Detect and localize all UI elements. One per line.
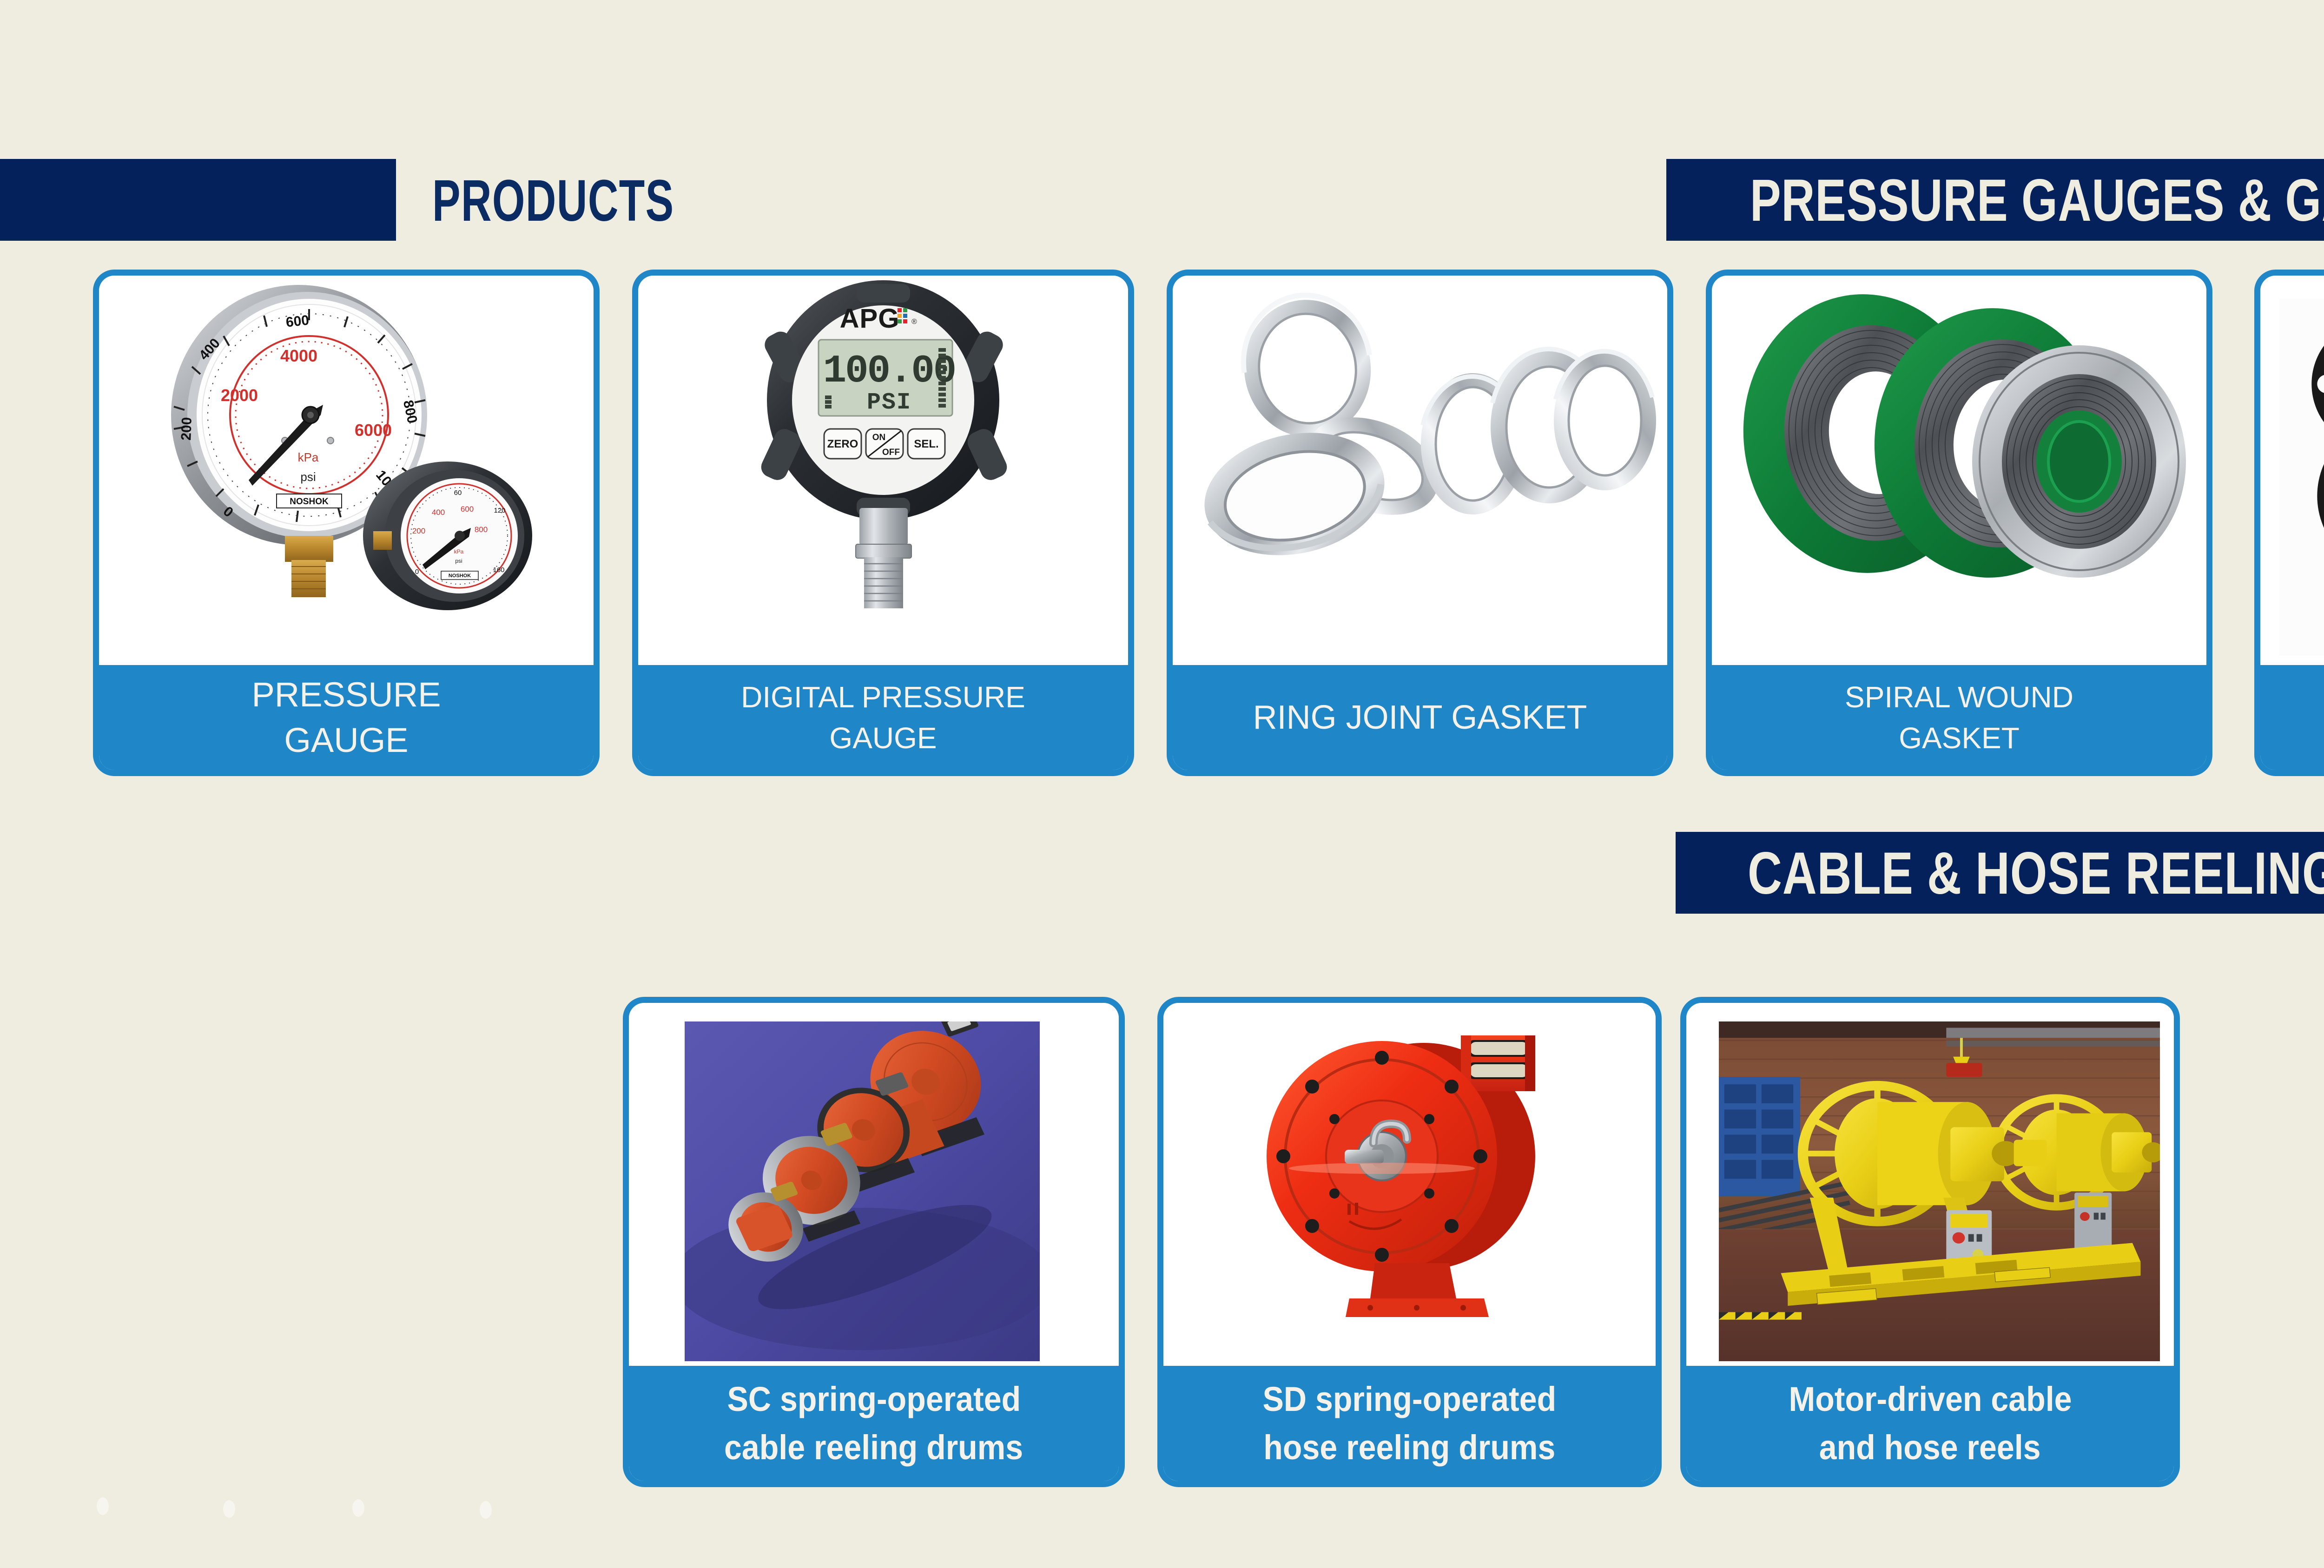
decor-dot xyxy=(97,1497,109,1515)
card-label-line1: RING JOINT GASKET xyxy=(1253,697,1587,738)
svg-text:NOSHOK: NOSHOK xyxy=(290,497,329,507)
card-label-line2: hose reeling drums xyxy=(1263,1423,1555,1472)
card-label-line1: SPIRAL WOUND xyxy=(1845,677,2073,718)
svg-text:ON: ON xyxy=(872,433,886,442)
decor-dot xyxy=(480,1501,492,1519)
svg-text:NOSHOK: NOSHOK xyxy=(449,573,471,579)
card-label-line1: SD spring-operated xyxy=(1263,1375,1557,1423)
card-label-line2: cable reeling drums xyxy=(724,1423,1023,1472)
card-label-line2: GAUGE xyxy=(284,718,408,763)
drums-header-title: CABLE & HOSE REELING DRUMS xyxy=(1748,836,2324,912)
products-header-bar xyxy=(0,159,396,241)
product-card-sd-hose-reeling-drums[interactable]: SD spring-operated hose reeling drums xyxy=(1157,997,1662,1487)
svg-text:600: 600 xyxy=(461,505,474,514)
svg-text:6000: 6000 xyxy=(355,421,392,440)
card-label-line1: Motor-driven cable xyxy=(1789,1375,2072,1423)
card-label: PRESSURE GAUGE xyxy=(99,665,594,770)
svg-text:APG: APG xyxy=(840,303,900,334)
svg-text:psi: psi xyxy=(455,558,462,564)
svg-text:200: 200 xyxy=(412,527,425,535)
product-card-ring-joint-gasket[interactable]: RING JOINT GASKET xyxy=(1167,270,1673,776)
svg-text:OFF: OFF xyxy=(882,448,900,457)
card-label: SPIRAL WOUND GASKET xyxy=(1712,665,2206,770)
svg-text:ZERO: ZERO xyxy=(827,438,858,450)
svg-text:0: 0 xyxy=(415,568,419,576)
sc-cable-reeling-drums-image xyxy=(629,1003,1119,1366)
card-label: Motor-driven cable and hose reels xyxy=(1686,1366,2174,1481)
svg-text:160: 160 xyxy=(493,566,504,574)
digital-pressure-gauge-image: APG ® 100.00 PSI xyxy=(638,276,1128,665)
svg-text:PSI: PSI xyxy=(867,389,911,416)
svg-text:120: 120 xyxy=(494,507,505,514)
svg-text:100.00: 100.00 xyxy=(823,349,955,394)
card-label: STEEL REINFORCED RUBBER GASKET xyxy=(2260,665,2324,770)
product-card-pressure-gauge[interactable]: 400 600 200 800 0 1000 4000 2000 6000 kP… xyxy=(93,270,600,776)
decor-dot xyxy=(223,1500,235,1518)
svg-text:60: 60 xyxy=(454,489,462,497)
decor-dot xyxy=(352,1499,364,1517)
svg-text:psi: psi xyxy=(300,470,316,484)
svg-text:200: 200 xyxy=(178,417,195,441)
card-label: SD spring-operated hose reeling drums xyxy=(1163,1366,1656,1481)
product-card-digital-pressure-gauge[interactable]: APG ® 100.00 PSI xyxy=(632,270,1134,776)
spiral-wound-gasket-image xyxy=(1712,276,2206,665)
card-label-line1: SC spring-operated xyxy=(727,1375,1021,1423)
svg-text:600: 600 xyxy=(285,313,310,330)
svg-text:2000: 2000 xyxy=(221,386,258,405)
motor-driven-cable-hose-reels-image xyxy=(1686,1003,2174,1366)
product-card-spiral-wound-gasket[interactable]: SPIRAL WOUND GASKET xyxy=(1706,270,2212,776)
pressure-gauge-image: 400 600 200 800 0 1000 4000 2000 6000 kP… xyxy=(99,276,594,665)
card-label-line1: PRESSURE xyxy=(251,672,441,718)
card-label-line1: DIGITAL PRESSURE xyxy=(741,677,1025,718)
products-header-title: PRODUCTS xyxy=(432,164,674,238)
svg-text:SEL.: SEL. xyxy=(914,438,938,450)
product-card-sc-cable-reeling-drums[interactable]: SC spring-operated cable reeling drums xyxy=(623,997,1125,1487)
card-label-line2: GAUGE xyxy=(829,718,937,758)
svg-text:kPa: kPa xyxy=(298,450,319,464)
svg-text:400: 400 xyxy=(432,508,445,517)
card-label: DIGITAL PRESSURE GAUGE xyxy=(638,665,1128,770)
ring-joint-gasket-image xyxy=(1173,276,1667,665)
card-label: RING JOINT GASKET xyxy=(1173,665,1667,770)
svg-text:kPa: kPa xyxy=(454,548,464,555)
product-card-steel-reinforced-rubber-gasket[interactable]: STEEL REINFORCED RUBBER GASKET xyxy=(2254,270,2324,776)
product-card-motor-driven-cable-hose-reels[interactable]: Motor-driven cable and hose reels xyxy=(1680,997,2180,1487)
svg-text:800: 800 xyxy=(475,525,488,534)
svg-text:4000: 4000 xyxy=(280,346,317,365)
steel-reinforced-rubber-gasket-image xyxy=(2260,276,2324,665)
card-label-line2: and hose reels xyxy=(1819,1423,2041,1472)
svg-text:®: ® xyxy=(911,318,917,326)
gauges-header-title: PRESSURE GAUGES & GASKETS xyxy=(1750,163,2324,239)
sd-hose-reeling-drums-image xyxy=(1163,1003,1656,1366)
card-label-line2: GASKET xyxy=(1899,718,2020,758)
card-label: SC spring-operated cable reeling drums xyxy=(629,1366,1119,1481)
